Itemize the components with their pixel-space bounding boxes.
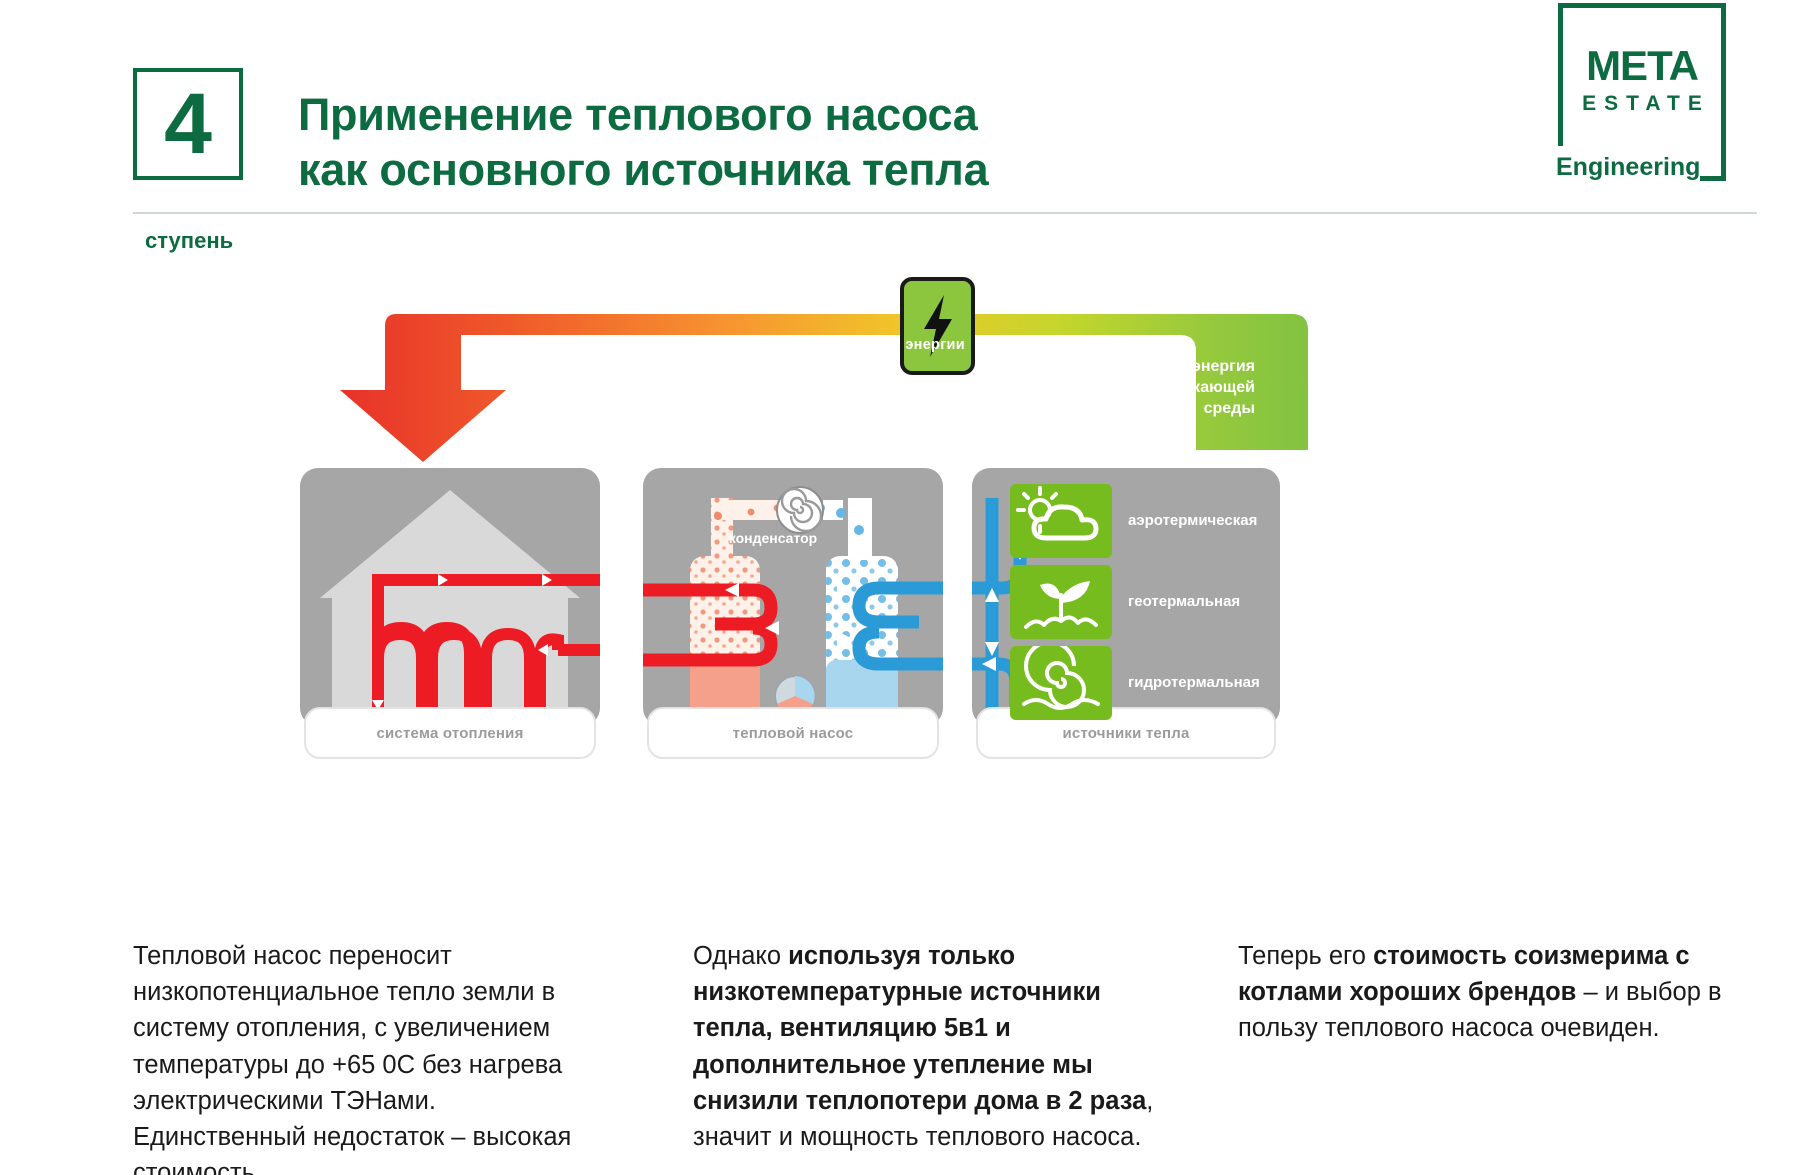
ambient-energy-line-3: среды xyxy=(1204,400,1255,417)
source-tile-aerothermal xyxy=(1010,484,1112,558)
description-column-1: Тепловой насос переносит низкопотенциаль… xyxy=(133,938,603,1175)
heat-pump-diagram: внешние источники энергии энергия окружа… xyxy=(300,240,1500,860)
logo: META ESTATE Engineering xyxy=(1558,3,1726,193)
external-energy-label: внешние источники энергии xyxy=(625,337,965,353)
page-title-line-1: Применение теплового насоса xyxy=(298,89,977,140)
description-column-3: Теперь его стоимость соизмерима с котлам… xyxy=(1238,938,1738,1047)
source-label-geothermal: геотермальная xyxy=(1128,593,1240,610)
panel-caption-heat-pump: тепловой насос xyxy=(647,707,939,759)
cloud-sun-icon xyxy=(1010,484,1112,558)
step-number-box: 4 xyxy=(133,68,243,180)
source-label-hydrothermal: гидротермальная xyxy=(1128,674,1260,691)
description-columns: Тепловой насос переносит низкопотенциаль… xyxy=(133,938,1763,1168)
source-tile-geothermal xyxy=(1010,565,1112,639)
source-label-aerothermal: аэротермическая xyxy=(1128,512,1257,529)
description-run: Тепловой насос переносит низкопотенциаль… xyxy=(133,942,571,1175)
page-title-line-2: как основного источника тепла xyxy=(298,143,1378,198)
water-ripple-icon xyxy=(1010,646,1112,720)
ambient-energy-label: энергия окружающей среды xyxy=(1060,356,1255,419)
sprout-icon xyxy=(1010,565,1112,639)
condenser-label: конденсатор xyxy=(698,530,848,546)
header-divider xyxy=(133,212,1757,214)
logo-frame-right xyxy=(1721,3,1726,181)
description-run: Теперь его xyxy=(1238,942,1373,970)
page-title: Применение теплового насоса как основног… xyxy=(298,88,1378,198)
logo-frame-top xyxy=(1558,3,1726,8)
panel-heating-system xyxy=(300,468,600,726)
slide-root: 4 ступень Применение теплового насоса ка… xyxy=(0,0,1800,1175)
logo-tertiary-text: Engineering xyxy=(1550,153,1700,182)
panel-caption-heating-system: система отопления xyxy=(304,707,596,759)
step-caption: ступень xyxy=(145,228,233,254)
step-number: 4 xyxy=(164,81,212,167)
ambient-energy-line-1: энергия xyxy=(1192,358,1255,375)
source-tile-hydrothermal xyxy=(1010,646,1112,720)
panel-heat-pump: конденсатор xyxy=(643,468,943,726)
description-run: Однако xyxy=(693,942,788,970)
ambient-energy-line-2: окружающей xyxy=(1152,379,1255,396)
logo-secondary-text: ESTATE xyxy=(1558,93,1726,114)
description-column-2: Однако используя только низкотемпературн… xyxy=(693,938,1183,1155)
electricity-source-box xyxy=(900,277,975,375)
logo-primary-text: META xyxy=(1558,45,1726,87)
